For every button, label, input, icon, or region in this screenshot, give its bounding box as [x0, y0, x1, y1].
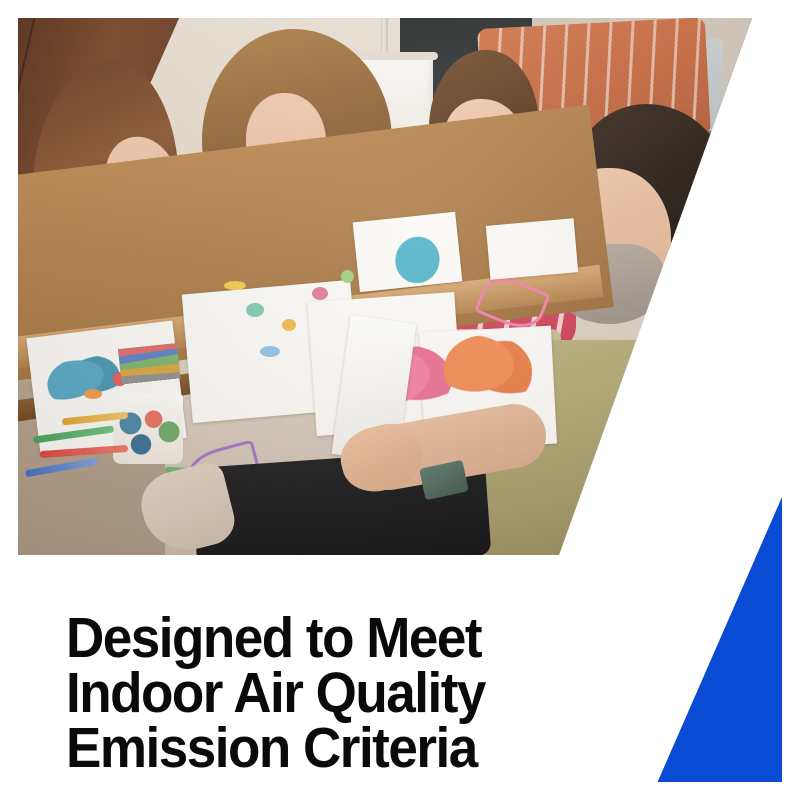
headline-line-2: Indoor Air Quality: [66, 666, 587, 721]
paper-sticker: [246, 303, 264, 317]
paper-sticker: [282, 319, 296, 331]
pencil-cup: [113, 394, 183, 464]
paper-sticker: [84, 389, 102, 399]
page-title: Designed to Meet Indoor Air Quality Emis…: [66, 611, 587, 776]
headline-line-1: Designed to Meet: [66, 611, 587, 666]
paper-sticker: [312, 287, 328, 300]
photo-scene: [18, 18, 752, 555]
blue-triangle-accent: [655, 497, 782, 782]
door-seam: [18, 18, 38, 91]
paper-sticker: [224, 281, 246, 290]
poster-canvas: Designed to Meet Indoor Air Quality Emis…: [0, 0, 800, 800]
craft-sheet: [486, 218, 578, 279]
hero-photo: [18, 18, 752, 555]
paper-sticker: [260, 346, 280, 357]
headline-line-3: Emission Criteria: [66, 721, 587, 776]
